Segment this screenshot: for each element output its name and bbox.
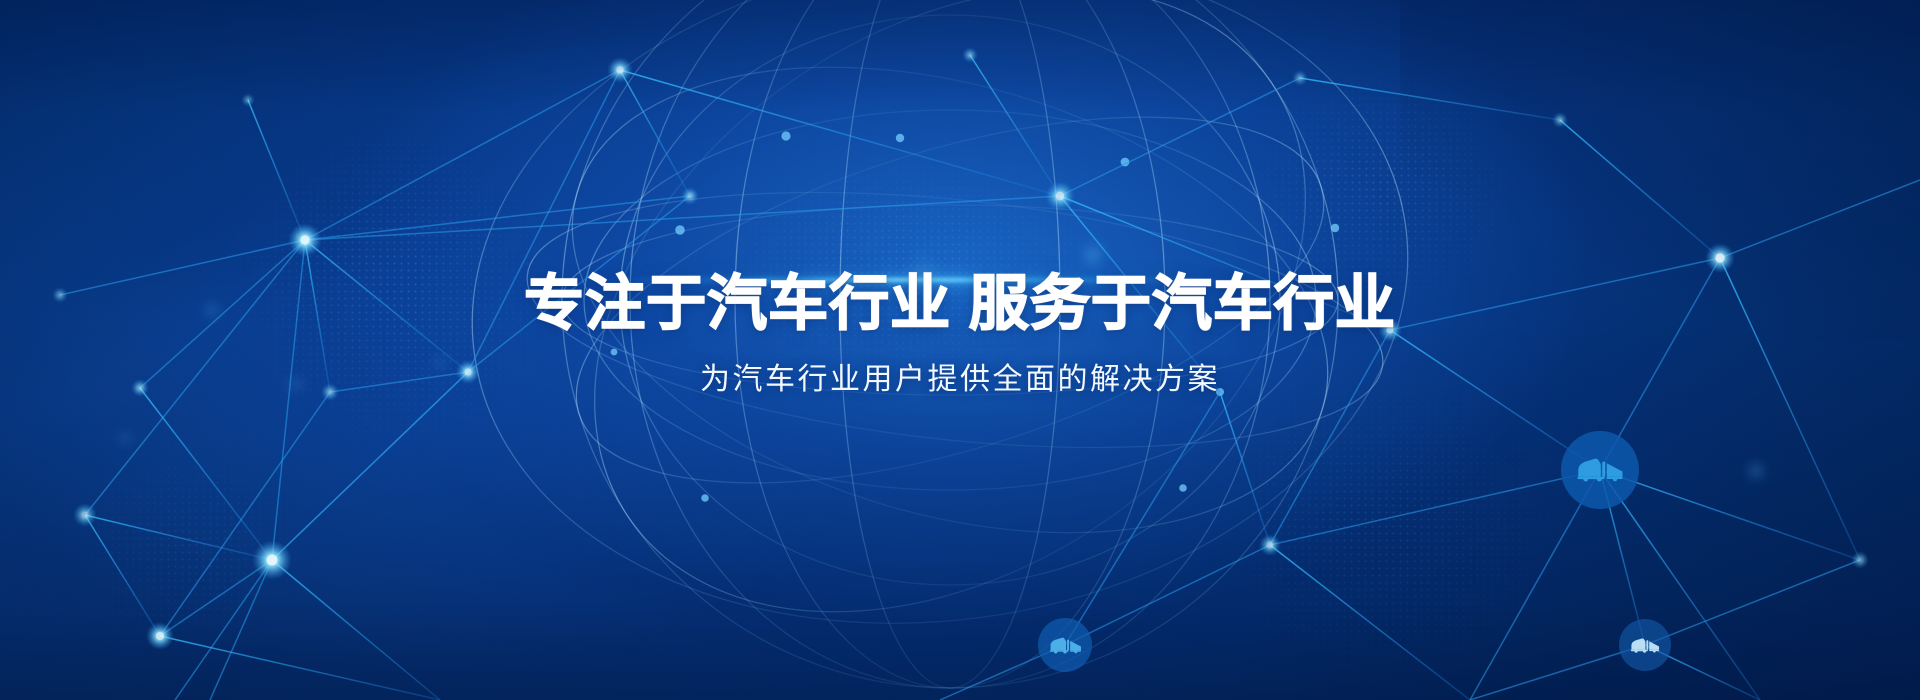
truck-badge-small — [1619, 619, 1671, 671]
truck-icon — [1576, 455, 1624, 485]
page-subtitle: 为汽车行业用户提供全面的解决方案 — [0, 354, 1920, 398]
truck-badge-large — [1561, 431, 1639, 509]
hero-banner: 专注于汽车行业 服务于汽车行业 为汽车行业用户提供全面的解决方案 — [0, 0, 1920, 700]
hero-text-block: 专注于汽车行业 服务于汽车行业 为汽车行业用户提供全面的解决方案 — [0, 272, 1920, 398]
truck-badge-medium — [1038, 618, 1092, 672]
truck-icon — [1049, 635, 1082, 656]
page-title: 专注于汽车行业 服务于汽车行业 — [0, 272, 1920, 336]
truck-icon — [1630, 636, 1660, 655]
